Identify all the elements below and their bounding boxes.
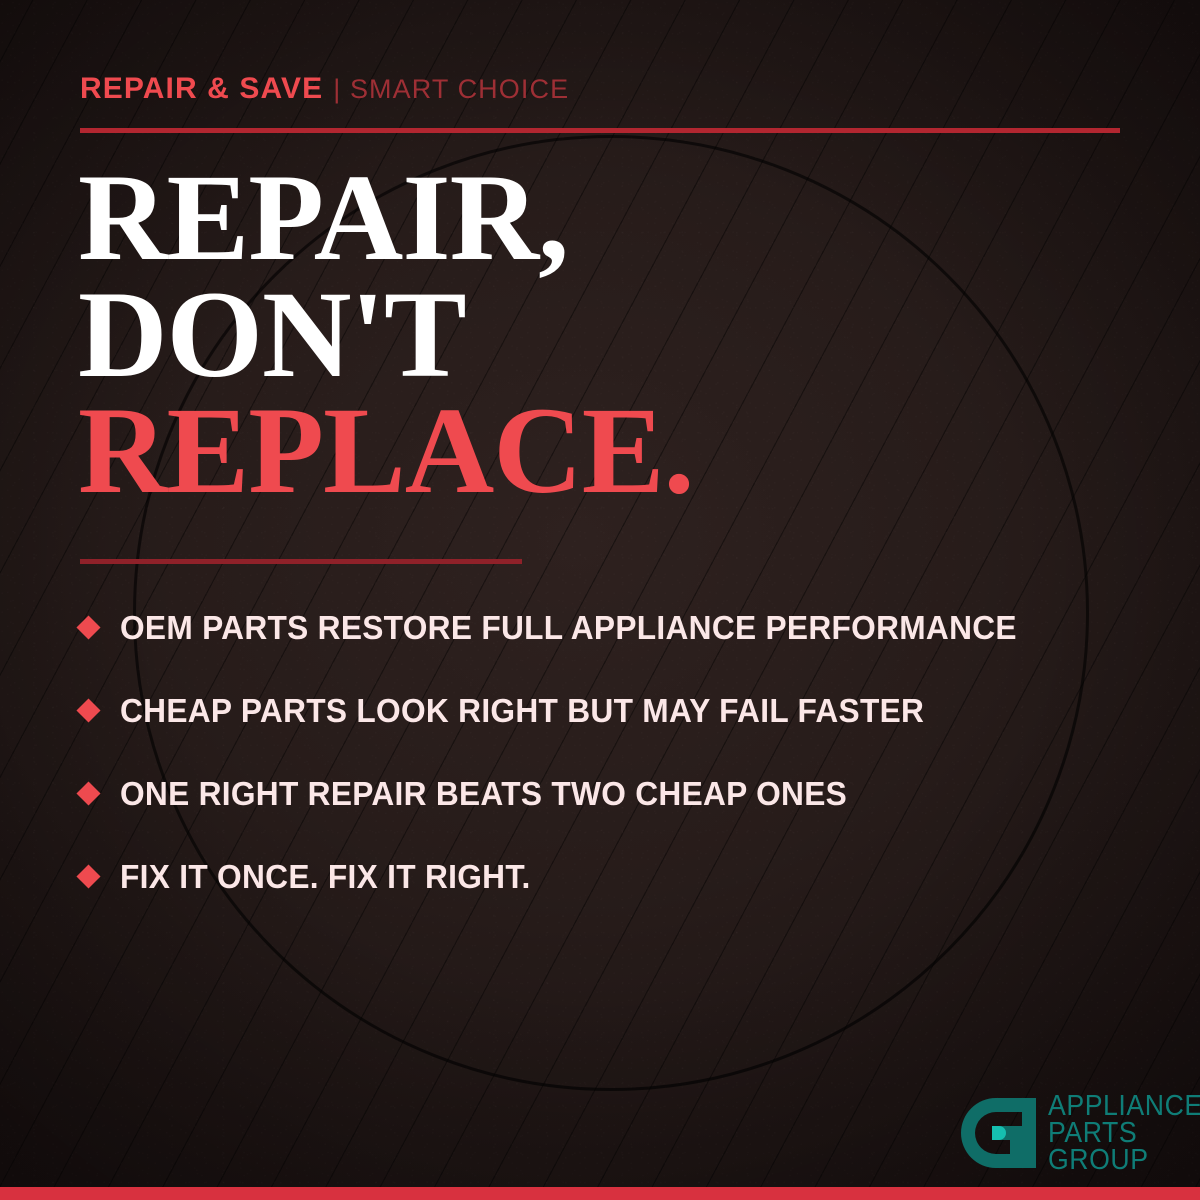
kicker-divider	[80, 128, 1120, 133]
list-item-label: CHEAP PARTS LOOK RIGHT BUT MAY FAIL FAST…	[120, 692, 924, 730]
kicker: REPAIR & SAVE| SMART CHOICE	[80, 74, 569, 104]
kicker-main-label: REPAIR & SAVE	[80, 72, 323, 105]
list-item: FIX IT ONCE. FIX IT RIGHT.	[80, 835, 1160, 918]
diamond-bullet-icon	[76, 615, 100, 639]
diamond-bullet-icon	[76, 781, 100, 805]
list-item-label: FIX IT ONCE. FIX IT RIGHT.	[120, 858, 531, 896]
headline-line-3: REPLACE.	[78, 393, 694, 510]
promo-poster: REPAIR & SAVE| SMART CHOICE REPAIR, DON'…	[0, 0, 1200, 1200]
brand-word-parts: PARTS	[1048, 1120, 1200, 1147]
list-item-label: OEM PARTS RESTORE FULL APPLIANCE PERFORM…	[120, 609, 1017, 647]
list-item: ONE RIGHT REPAIR BEATS TWO CHEAP ONES	[80, 752, 1160, 835]
poster-content: REPAIR & SAVE| SMART CHOICE REPAIR, DON'…	[0, 0, 1200, 1200]
appliance-parts-group-g-icon	[952, 1092, 1038, 1174]
brand-word-appliance: APPLIANCE	[1048, 1093, 1200, 1120]
headline-line-1: REPAIR,	[78, 160, 694, 277]
list-item: OEM PARTS RESTORE FULL APPLIANCE PERFORM…	[80, 586, 1160, 669]
diamond-bullet-icon	[76, 698, 100, 722]
headline-divider	[80, 559, 522, 564]
list-item-label: ONE RIGHT REPAIR BEATS TWO CHEAP ONES	[120, 775, 847, 813]
list-item: CHEAP PARTS LOOK RIGHT BUT MAY FAIL FAST…	[80, 669, 1160, 752]
page-title: REPAIR, DON'T REPLACE.	[78, 160, 694, 510]
brand-logo: APPLIANCE PARTS GROUP	[952, 1092, 1200, 1174]
diamond-bullet-icon	[76, 864, 100, 888]
bottom-accent-bar	[0, 1187, 1200, 1200]
headline-line-2: DON'T	[78, 277, 694, 394]
brand-logo-wordmark: APPLIANCE PARTS GROUP	[1048, 1093, 1200, 1174]
benefits-list: OEM PARTS RESTORE FULL APPLIANCE PERFORM…	[80, 586, 1160, 918]
kicker-sub-label: | SMART CHOICE	[333, 74, 569, 104]
brand-word-group: GROUP	[1048, 1147, 1200, 1174]
